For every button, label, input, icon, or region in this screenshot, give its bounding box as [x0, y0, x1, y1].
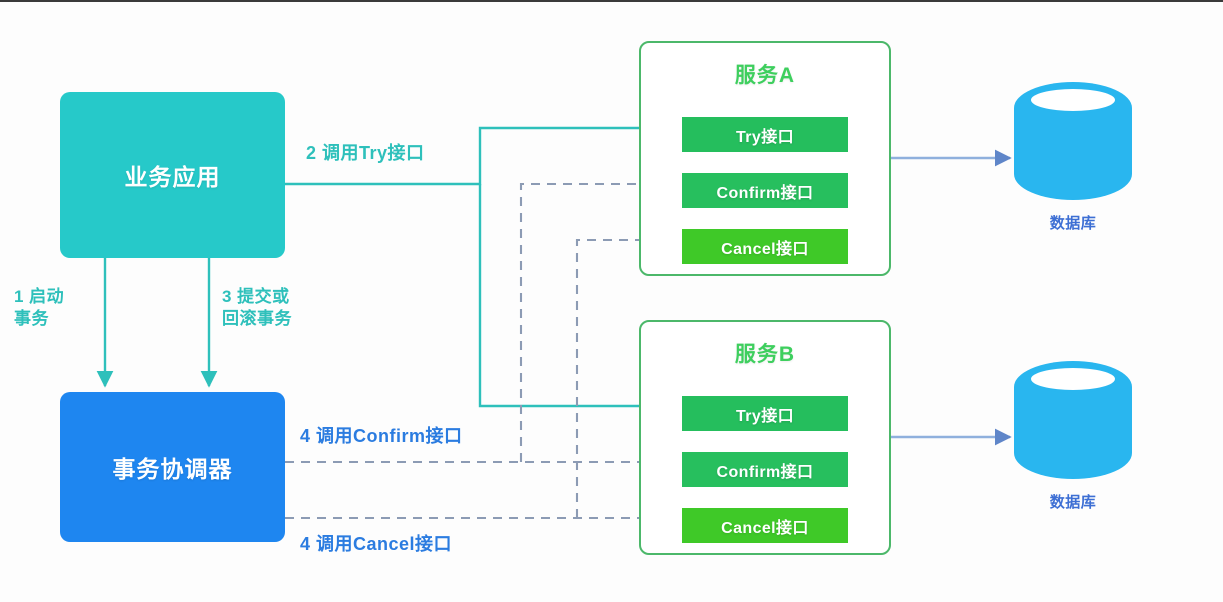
edge-label-commit-or-rollback: 3 提交或 回滚事务	[222, 286, 292, 330]
node-transaction-coordinator[interactable]: 事务协调器	[60, 392, 285, 542]
service-a-title: 服务A	[641, 59, 889, 89]
diagram-canvas: 业务应用 事务协调器 服务A Try接口 Confirm接口 Cancel接口 …	[0, 0, 1223, 602]
database-top-ellipse	[1028, 365, 1118, 393]
edge-label-call-try: 2 调用Try接口	[306, 142, 425, 165]
database-cylinder-icon	[1014, 361, 1132, 479]
service-a-cancel-interface[interactable]: Cancel接口	[682, 229, 848, 264]
service-b-title: 服务B	[641, 338, 889, 368]
node-transaction-coordinator-label: 事务协调器	[113, 450, 233, 484]
service-a-confirm-interface[interactable]: Confirm接口	[682, 173, 848, 208]
node-service-a[interactable]: 服务A Try接口 Confirm接口 Cancel接口	[639, 41, 891, 276]
database-top-ellipse	[1028, 86, 1118, 114]
service-b-cancel-interface[interactable]: Cancel接口	[682, 508, 848, 543]
service-b-try-interface[interactable]: Try接口	[682, 396, 848, 431]
node-service-b[interactable]: 服务B Try接口 Confirm接口 Cancel接口	[639, 320, 891, 555]
node-business-application[interactable]: 业务应用	[60, 92, 285, 258]
database-cylinder-icon	[1014, 82, 1132, 200]
edge-call-try-service-b	[480, 184, 661, 406]
database-b-label: 数据库	[1014, 491, 1132, 512]
service-a-try-interface[interactable]: Try接口	[682, 117, 848, 152]
edge-label-start-transaction: 1 启动 事务	[14, 286, 64, 330]
service-b-confirm-interface[interactable]: Confirm接口	[682, 452, 848, 487]
top-divider	[0, 0, 1223, 2]
edge-label-call-confirm: 4 调用Confirm接口	[300, 425, 463, 448]
edge-label-call-cancel: 4 调用Cancel接口	[300, 533, 452, 556]
database-a-label: 数据库	[1014, 212, 1132, 233]
node-business-application-label: 业务应用	[125, 158, 221, 192]
node-database-a[interactable]: 数据库	[1014, 82, 1132, 233]
node-database-b[interactable]: 数据库	[1014, 361, 1132, 512]
